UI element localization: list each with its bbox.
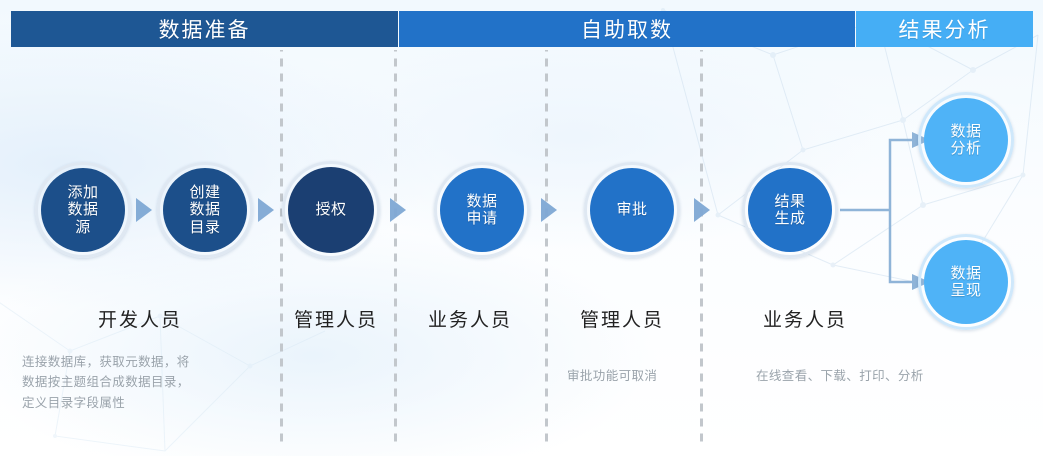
phase-band-data-preparation[interactable]: 数据准备 (11, 11, 398, 47)
flow-node-label: 审批 (616, 201, 647, 218)
role-label-admin-2: 管理人员 (580, 305, 664, 332)
lane-divider-2 (394, 50, 397, 442)
flow-node-data-analysis[interactable]: 数据 分析 (918, 92, 1014, 188)
role-text: 开发人员 (98, 310, 182, 331)
phase-band-self-service-query[interactable]: 自助取数 (399, 11, 855, 47)
flow-arrow-4 (541, 198, 557, 222)
flow-node-label: 数据 分析 (950, 123, 981, 157)
flow-arrow-1 (136, 198, 152, 222)
flow-node-data-request[interactable]: 数据 申请 (434, 162, 530, 258)
flow-node-data-presentation[interactable]: 数据 呈现 (918, 234, 1014, 330)
flow-node-approval[interactable]: 审批 (584, 162, 680, 258)
flow-node-authorize[interactable]: 授权 (282, 161, 380, 259)
flow-arrow-2 (258, 198, 274, 222)
note-result-analysis: 在线查看、下载、打印、分析 (756, 366, 1036, 386)
flow-node-create-catalog[interactable]: 创建 数据 目录 (157, 162, 253, 258)
role-label-developer: 开发人员 (98, 305, 182, 332)
flow-node-add-data-source[interactable]: 添加 数据 源 (35, 162, 131, 258)
phase-band-label: 结果分析 (899, 14, 991, 44)
flow-node-label: 创建 数据 目录 (189, 184, 220, 235)
note-approval: 审批功能可取消 (567, 366, 767, 386)
role-text: 管理人员 (580, 310, 664, 331)
phase-band-result-analysis[interactable]: 结果分析 (856, 11, 1033, 47)
lane-divider-1 (280, 50, 283, 442)
flow-node-label: 结果 生成 (774, 193, 805, 227)
role-text: 业务人员 (428, 310, 512, 331)
phase-band-label: 自助取数 (581, 14, 673, 44)
role-label-business-2: 业务人员 (763, 305, 847, 332)
flow-node-label: 添加 数据 源 (67, 184, 98, 235)
flow-node-result-generation[interactable]: 结果 生成 (742, 162, 838, 258)
flow-diagram-canvas: 数据准备 自助取数 结果分析 添加 数据 源 创建 数据 目录 授权 (0, 0, 1043, 456)
flow-node-label: 授权 (315, 201, 346, 218)
role-text: 管理人员 (294, 310, 378, 331)
phase-band-label: 数据准备 (159, 14, 251, 44)
lane-divider-3 (545, 50, 548, 442)
flow-arrow-5 (694, 198, 710, 222)
flow-arrow-3 (390, 198, 406, 222)
role-text: 业务人员 (763, 310, 847, 331)
role-label-admin-1: 管理人员 (294, 305, 378, 332)
note-data-preparation: 连接数据库，获取元数据，将 数据按主题组合成数据目录， 定义目录字段属性 (22, 352, 272, 413)
role-label-business-1: 业务人员 (428, 305, 512, 332)
flow-node-label: 数据 呈现 (950, 265, 981, 299)
flow-node-label: 数据 申请 (466, 193, 497, 227)
